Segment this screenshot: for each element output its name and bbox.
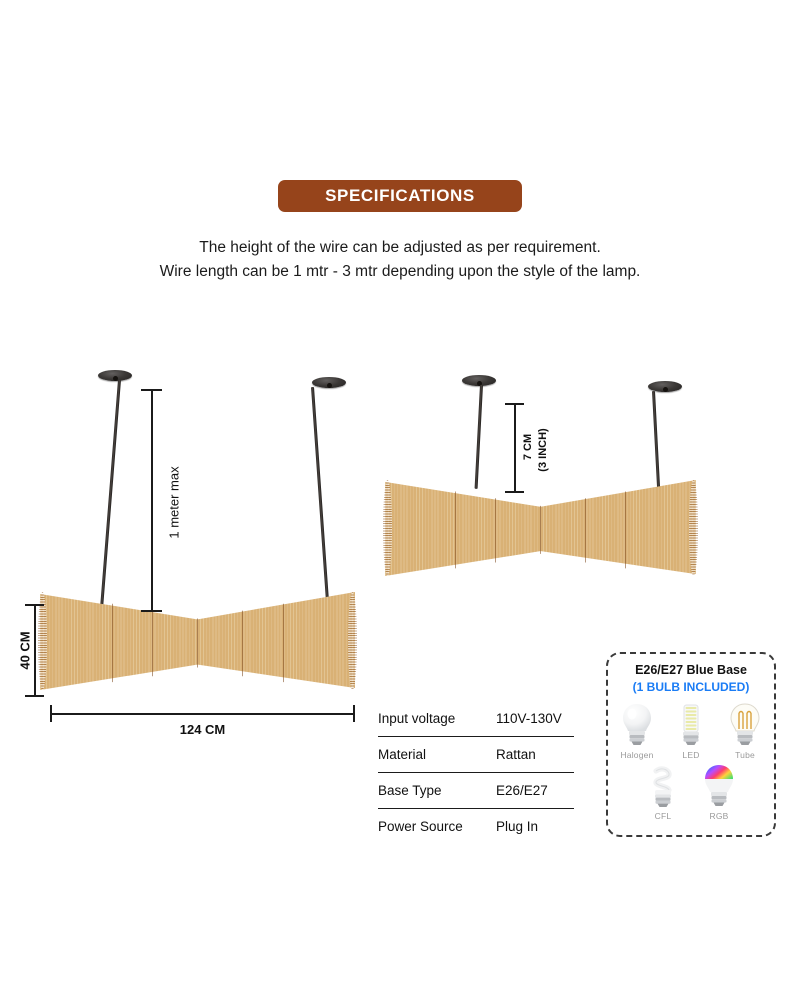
table-cell-value: E26/E27: [496, 783, 548, 798]
table-cell-key: Input voltage: [378, 711, 496, 726]
table-cell-value: 110V-130V: [496, 711, 562, 726]
shade-cone-left-2: [385, 480, 541, 576]
rattan-lamp-shade-left: [40, 592, 355, 690]
height-tick-bottom: [141, 610, 162, 612]
bulb-label: CFL: [637, 811, 689, 821]
table-row: Base Type E26/E27: [378, 772, 574, 808]
bulb-label: Tube: [719, 750, 771, 760]
shade-height-dimension-line: [34, 604, 36, 696]
drop-tick-top: [505, 403, 524, 405]
bulb-label: RGB: [693, 811, 745, 821]
ceiling-canopy-right: [312, 377, 346, 388]
shade-rim-right: [348, 592, 357, 690]
table-cell-value: Plug In: [496, 819, 538, 834]
intro-line-1: The height of the wire can be adjusted a…: [0, 236, 800, 260]
shade-height-tick-top: [25, 604, 44, 606]
width-dimension-line: [50, 713, 355, 715]
shade-rim-left-2: [383, 480, 392, 576]
table-cell-value: Rattan: [496, 747, 536, 762]
bulb-option-halogen: Halogen: [611, 701, 663, 760]
drop-dimension-line: [514, 403, 516, 493]
ceiling-canopy-left: [98, 370, 132, 381]
specifications-badge-label: SPECIFICATIONS: [325, 186, 475, 206]
bulb-included-panel: E26/E27 Blue Base (1 BULB INCLUDED): [606, 652, 776, 837]
width-tick-left: [50, 705, 52, 722]
shade-height-dimension-label: 40 CM: [18, 621, 33, 681]
rattan-lamp-shade-right: [385, 480, 695, 576]
table-cell-key: Material: [378, 747, 496, 762]
shade-height-tick-bottom: [25, 695, 44, 697]
shade-cone-right: [197, 592, 355, 690]
width-dimension-label: 124 CM: [50, 722, 355, 737]
specifications-table: Input voltage 110V-130V Material Rattan …: [378, 700, 574, 844]
bulb-panel-title: E26/E27 Blue Base: [608, 663, 774, 679]
bulb-option-tube: Tube: [719, 701, 771, 760]
height-dimension-label: 1 meter max: [167, 461, 182, 545]
shade-cone-left: [40, 592, 198, 690]
halogen-bulb-icon: [617, 701, 657, 749]
table-row: Power Source Plug In: [378, 808, 574, 844]
table-cell-key: Base Type: [378, 783, 496, 798]
table-row: Material Rattan: [378, 736, 574, 772]
hanging-cord-left-2: [475, 385, 483, 489]
intro-text: The height of the wire can be adjusted a…: [0, 236, 800, 283]
width-tick-right: [353, 705, 355, 722]
bulb-label: LED: [665, 750, 717, 760]
height-tick-top: [141, 389, 162, 391]
tube-bulb-icon: [725, 701, 765, 749]
drop-dimension-label-line2: (3 INCH): [537, 420, 549, 480]
cfl-bulb-icon: [643, 762, 683, 810]
shade-rim-right-2: [689, 480, 698, 576]
bulb-option-led: LED: [665, 701, 717, 760]
bulb-label: Halogen: [611, 750, 663, 760]
ceiling-canopy-left-2: [462, 375, 496, 386]
height-dimension-line: [151, 389, 153, 611]
specifications-page: SPECIFICATIONS The height of the wire ca…: [0, 0, 800, 1000]
specifications-badge: SPECIFICATIONS: [278, 180, 522, 212]
rgb-bulb-icon: [699, 762, 739, 810]
drop-tick-bottom: [505, 491, 524, 493]
drop-dimension-label-line1: 7 CM: [522, 419, 534, 475]
table-row: Input voltage 110V-130V: [378, 700, 574, 736]
bulb-panel-subtitle: (1 BULB INCLUDED): [608, 680, 774, 696]
bulb-option-cfl: CFL: [637, 762, 689, 821]
shade-cone-right-2: [540, 480, 696, 576]
bulb-option-rgb: RGB: [693, 762, 745, 821]
intro-line-2: Wire length can be 1 mtr - 3 mtr dependi…: [0, 260, 800, 284]
hanging-cord-left: [100, 380, 121, 611]
shade-rim-left: [38, 592, 47, 690]
hanging-cord-right: [311, 387, 329, 612]
led-bulb-icon: [671, 701, 711, 749]
table-cell-key: Power Source: [378, 819, 496, 834]
